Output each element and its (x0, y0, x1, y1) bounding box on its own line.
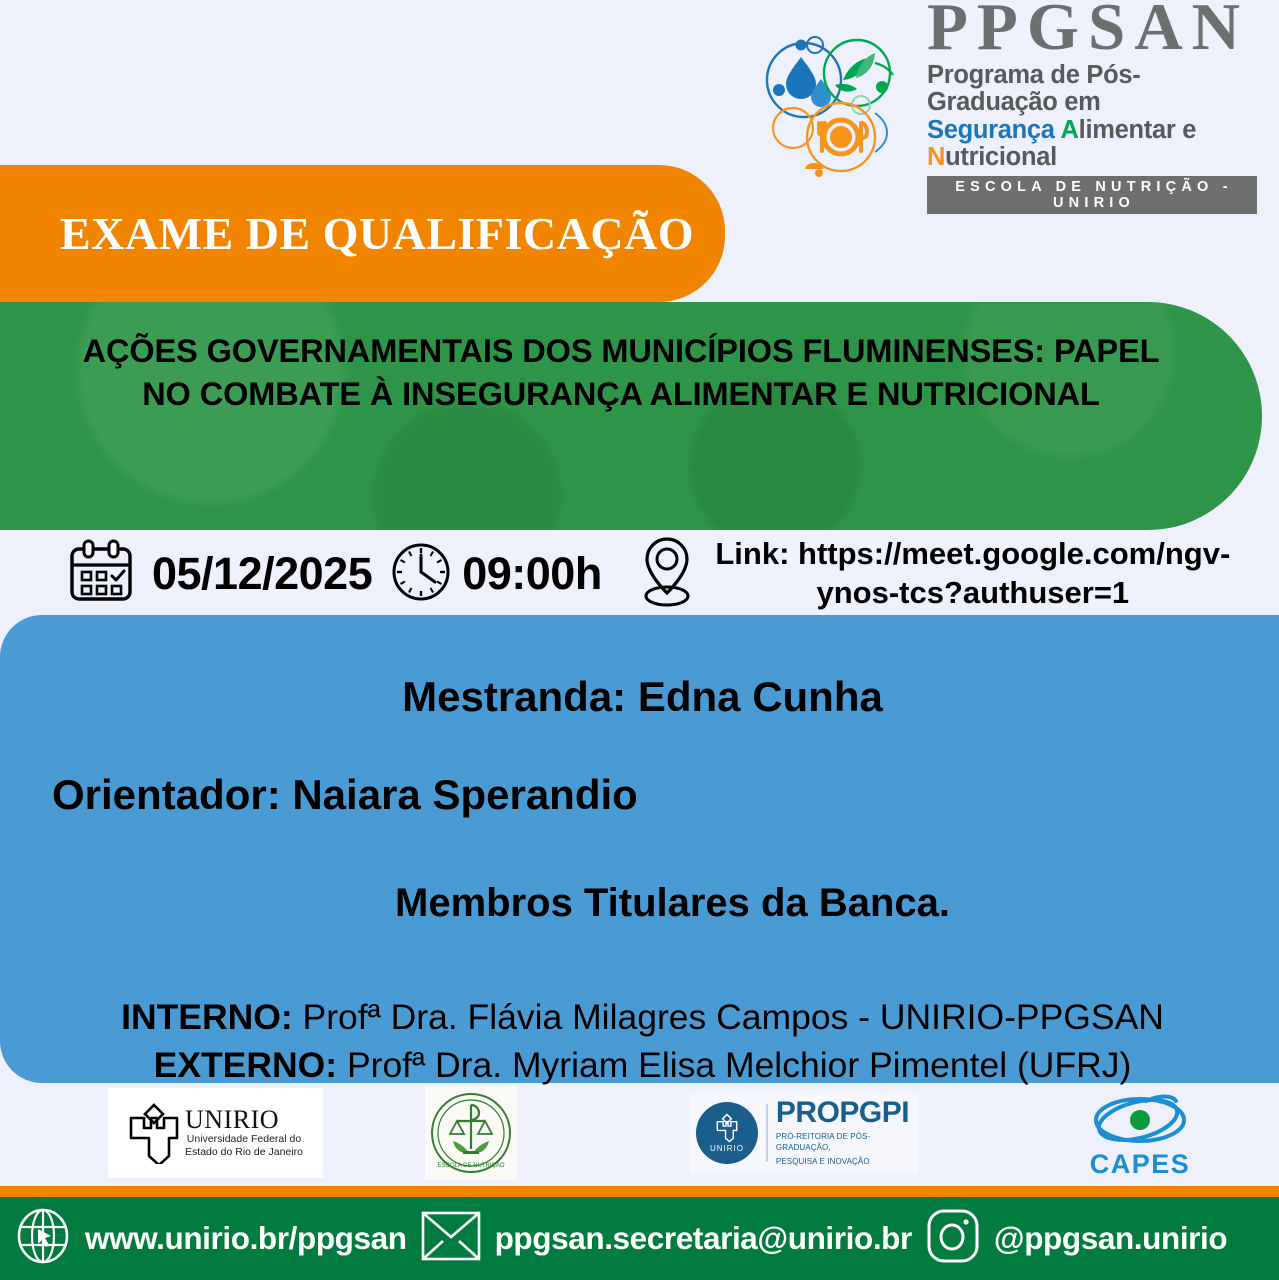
logo-utricional-word: utricional (945, 143, 1057, 171)
propgpi-text: PROPGPI PRÓ-REITORIA DE PÓS-GRADUAÇÃO, P… (776, 1098, 918, 1168)
logo-subject-line: Segurança Alimentar e Nutricional (927, 117, 1257, 172)
board-member-external-role: EXTERNO: (154, 1045, 337, 1085)
logo-limentar-word: limentar e (1079, 116, 1196, 144)
ppgsan-logo-mark (757, 33, 917, 178)
capes-mark-icon (1080, 1089, 1200, 1151)
capes-wordmark: CAPES (1090, 1149, 1191, 1180)
instagram-item[interactable]: @ppgsan.unirio (925, 1207, 1240, 1270)
logo-seguranca-word: Segurança (927, 116, 1061, 144)
meeting-link[interactable]: Link: https://meet.google.com/ngv- ynos-… (708, 535, 1238, 613)
ppgsan-logo-text: PPGSAN Programa de Pós-Graduação em Segu… (927, 0, 1257, 214)
unirio-logo-text: UNIRIO Universidade Federal do Estado do… (185, 1107, 303, 1159)
exam-type-label: EXAME DE QUALIFICAÇÃO (0, 207, 694, 260)
thesis-title: AÇÕES GOVERNAMENTAIS DOS MUNICÍPIOS FLUM… (31, 330, 1211, 416)
ppgsan-emblem-icon (757, 33, 917, 178)
website-url[interactable]: www.unirio.br/ppgsan (85, 1220, 407, 1257)
event-info-row: 05/12/2025 09:00h (0, 528, 1279, 620)
thesis-title-block: AÇÕES GOVERNAMENTAIS DOS MUNICÍPIOS FLUM… (0, 302, 1262, 530)
propgpi-logo: UNIRIO PROPGPI PRÓ-REITORIA DE PÓS-GRADU… (690, 1093, 918, 1173)
exam-type-banner: EXAME DE QUALIFICAÇÃO (0, 165, 725, 302)
propgpi-circle-label: UNIRIO (710, 1144, 744, 1153)
thesis-title-line1: AÇÕES GOVERNAMENTAIS DOS MUNICÍPIOS FLUM… (83, 333, 1160, 369)
board-member-internal: INTERNO: Profª Dra. Flávia Milagres Camp… (30, 994, 1255, 1042)
svg-text:ESCOLA DE NUTRIÇÃO: ESCOLA DE NUTRIÇÃO (437, 1162, 504, 1169)
propgpi-unirio-circle-icon: UNIRIO (696, 1102, 758, 1164)
ppgsan-logo: PPGSAN Programa de Pós-Graduação em Segu… (757, 30, 1257, 180)
calendar-icon (66, 539, 136, 610)
event-date: 05/12/2025 (152, 548, 372, 600)
globe-icon (14, 1207, 72, 1270)
event-time: 09:00h (462, 548, 602, 600)
board-members: INTERNO: Profª Dra. Flávia Milagres Camp… (30, 994, 1255, 1089)
logo-a-letter: A (1061, 116, 1079, 144)
unirio-subtitle-line2: Estado do Rio de Janeiro (185, 1146, 303, 1159)
contact-bar: www.unirio.br/ppgsan ppgsan.secretaria@u… (0, 1197, 1279, 1280)
clock-icon (390, 541, 452, 608)
logo-school-band: ESCOLA DE NUTRIÇÃO - UNIRIO (927, 176, 1257, 214)
thesis-title-line2: NO COMBATE À INSEGURANÇA ALIMENTAR E NUT… (142, 376, 1100, 412)
propgpi-subtitle-line1: PRÓ-REITORIA DE PÓS-GRADUAÇÃO, (776, 1132, 918, 1154)
instagram-handle[interactable]: @ppgsan.unirio (994, 1220, 1227, 1257)
logo-n-letter: N (927, 143, 945, 171)
unirio-logo: UNIRIO Universidade Federal do Estado do… (108, 1088, 323, 1178)
location-pin-icon (636, 533, 698, 616)
propgpi-wordmark: PROPGPI (776, 1098, 918, 1128)
sponsor-logos-row: UNIRIO Universidade Federal do Estado do… (0, 1083, 1279, 1186)
board-member-internal-name: Profª Dra. Flávia Milagres Campos - UNIR… (293, 997, 1164, 1037)
location-item: Link: https://meet.google.com/ngv- ynos-… (602, 533, 1238, 616)
board-member-external-name: Profª Dra. Myriam Elisa Melchior Pimente… (337, 1045, 1131, 1085)
propgpi-divider (766, 1104, 768, 1162)
unirio-subtitle-line1: Universidade Federal do (185, 1133, 303, 1146)
time-item: 09:00h (372, 541, 602, 608)
details-panel: Mestranda: Edna Cunha Orientador: Naiara… (0, 615, 1279, 1083)
website-item[interactable]: www.unirio.br/ppgsan (14, 1207, 420, 1270)
logo-program-line: Programa de Pós-Graduação em (927, 62, 1257, 117)
board-member-external: EXTERNO: Profª Dra. Myriam Elisa Melchio… (30, 1042, 1255, 1090)
email-address[interactable]: ppgsan.secretaria@unirio.br (495, 1220, 912, 1257)
instagram-icon (925, 1207, 981, 1270)
advisor-name: Orientador: Naiara Sperandio (30, 771, 1255, 819)
unirio-mark-icon (128, 1102, 180, 1164)
escola-nutricao-seal-icon: ESCOLA DE NUTRIÇÃO (429, 1091, 513, 1175)
email-item[interactable]: ppgsan.secretaria@unirio.br (420, 1210, 925, 1267)
student-name: Mestranda: Edna Cunha (30, 673, 1255, 721)
footer-orange-rule (0, 1186, 1279, 1197)
board-heading: Membros Titulares da Banca. (30, 881, 1255, 926)
propgpi-subtitle-line2: PESQUISA E INOVAÇÃO (776, 1157, 918, 1168)
logo-acronym: PPGSAN (927, 0, 1257, 60)
meeting-link-line1: Link: https://meet.google.com/ngv- (715, 536, 1230, 571)
capes-logo: CAPES (1065, 1085, 1215, 1183)
board-member-internal-role: INTERNO: (121, 997, 293, 1037)
date-item: 05/12/2025 (0, 539, 372, 610)
unirio-wordmark: UNIRIO (185, 1107, 303, 1133)
escola-nutricao-logo: ESCOLA DE NUTRIÇÃO (425, 1086, 517, 1180)
meeting-link-line2: ynos-tcs?authuser=1 (816, 575, 1129, 610)
envelope-icon (420, 1210, 482, 1267)
